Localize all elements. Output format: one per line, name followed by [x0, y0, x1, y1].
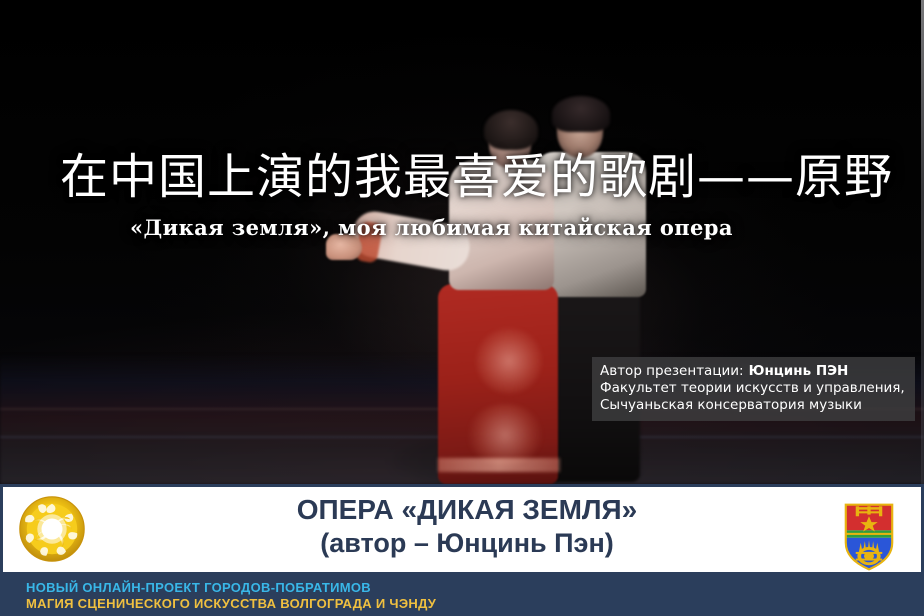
footer-title: ОПЕРА «ДИКАЯ ЗЕМЛЯ» (автор – Юнцинь Пэн) — [3, 493, 921, 559]
slogan-line-1: НОВЫЙ ОНЛАЙН-ПРОЕКТ ГОРОДОВ-ПОБРАТИМОВ — [26, 580, 371, 595]
footer-band: ОПЕРА «ДИКАЯ ЗЕМЛЯ» (автор – Юнцинь Пэн) — [0, 484, 924, 572]
author-line-name: Автор презентации:Юнцинь ПЭН — [600, 363, 915, 380]
footer-title-line1: ОПЕРА «ДИКАЯ ЗЕМЛЯ» — [13, 493, 921, 527]
author-affiliation-line2: Сычуаньская консерватория музыки — [600, 397, 915, 414]
bottom-slogan-strip: НОВЫЙ ОНЛАЙН-ПРОЕКТ ГОРОДОВ-ПОБРАТИМОВ М… — [0, 572, 924, 616]
skirt-flower-pattern — [476, 328, 542, 394]
author-affiliation-line1: Факультет теории искусств и управления, — [600, 380, 915, 397]
presentation-slide: 在中国上演的我最喜爱的歌剧——原野 «Дикая земля», моя люб… — [0, 0, 924, 616]
footer-title-line2: (автор – Юнцинь Пэн) — [13, 527, 921, 559]
author-label: Автор презентации: — [600, 363, 744, 379]
author-name: Юнцинь ПЭН — [749, 363, 849, 379]
male-hair — [552, 96, 610, 132]
skirt-flower-pattern — [468, 404, 542, 466]
slide-title-chinese: 在中国上演的我最喜爱的歌剧——原野 — [60, 137, 893, 207]
volgograd-coat-of-arms-icon — [844, 503, 894, 571]
author-info-box: Автор презентации:Юнцинь ПЭН Факультет т… — [592, 357, 915, 421]
slogan-line-2: МАГИЯ СЦЕНИЧЕСКОГО ИСКУССТВА ВОЛГОГРАДА … — [26, 596, 436, 611]
slide-subtitle-russian: «Дикая земля», моя любимая китайская опе… — [130, 215, 733, 240]
skirt-hem — [438, 458, 560, 472]
